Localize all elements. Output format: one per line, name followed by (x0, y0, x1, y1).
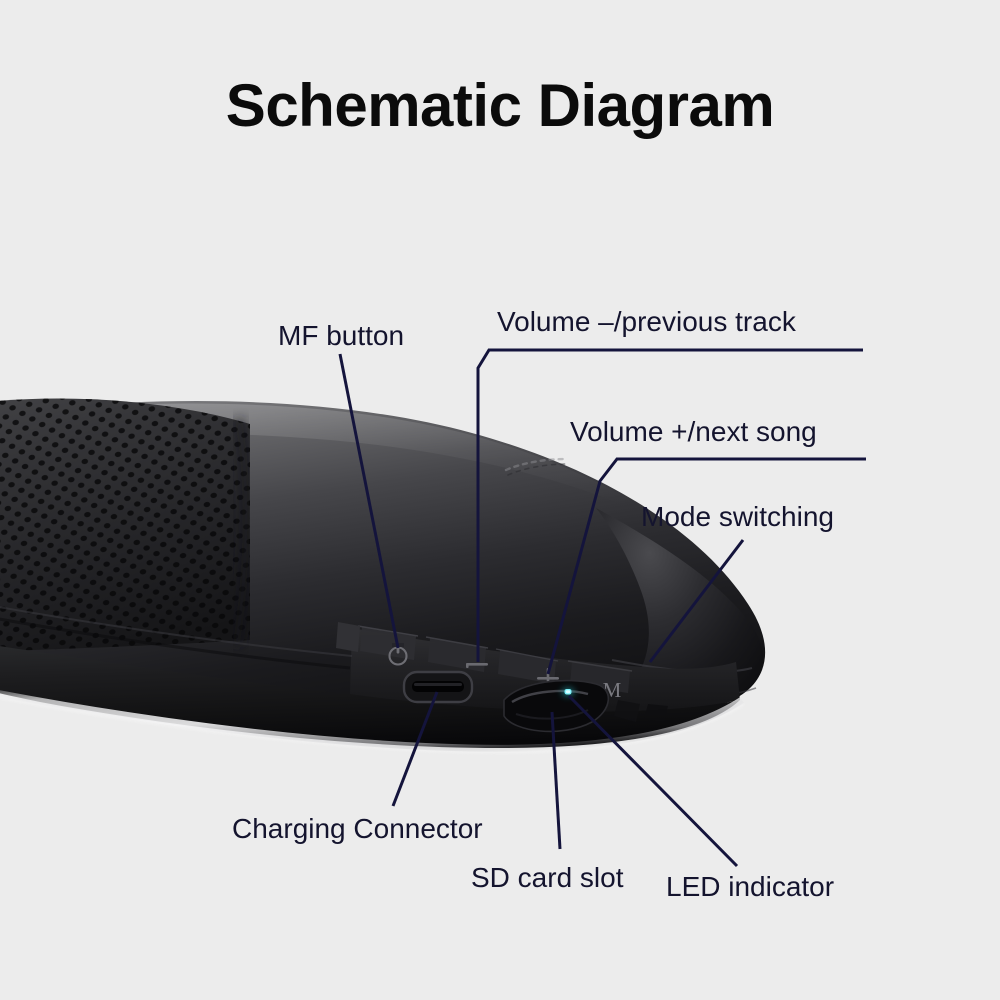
callout-mf-button: MF button (278, 322, 404, 350)
callout-label: Volume +/next song (570, 416, 817, 447)
strip-left-step (336, 622, 360, 652)
schematic-diagram-canvas: Schematic Diagram (0, 0, 1000, 1000)
callout-label: MF button (278, 320, 404, 351)
callout-volume-down: Volume –/previous track (497, 308, 796, 336)
charging-port[interactable] (404, 672, 472, 702)
callout-label: SD card slot (471, 862, 624, 893)
callout-label: Volume –/previous track (497, 306, 796, 337)
callout-label: Charging Connector (232, 813, 483, 844)
callout-label: Mode switching (641, 501, 834, 532)
callout-label: LED indicator (666, 871, 834, 902)
callout-led-indicator: LED indicator (666, 873, 834, 901)
callout-sd-card-slot: SD card slot (471, 864, 624, 892)
speaker-illustration: M (0, 0, 1000, 1000)
callout-mode-switching: Mode switching (641, 503, 834, 531)
callout-volume-up: Volume +/next song (570, 418, 817, 446)
callout-charging-connector: Charging Connector (232, 815, 483, 843)
led-indicator-light (562, 688, 575, 697)
